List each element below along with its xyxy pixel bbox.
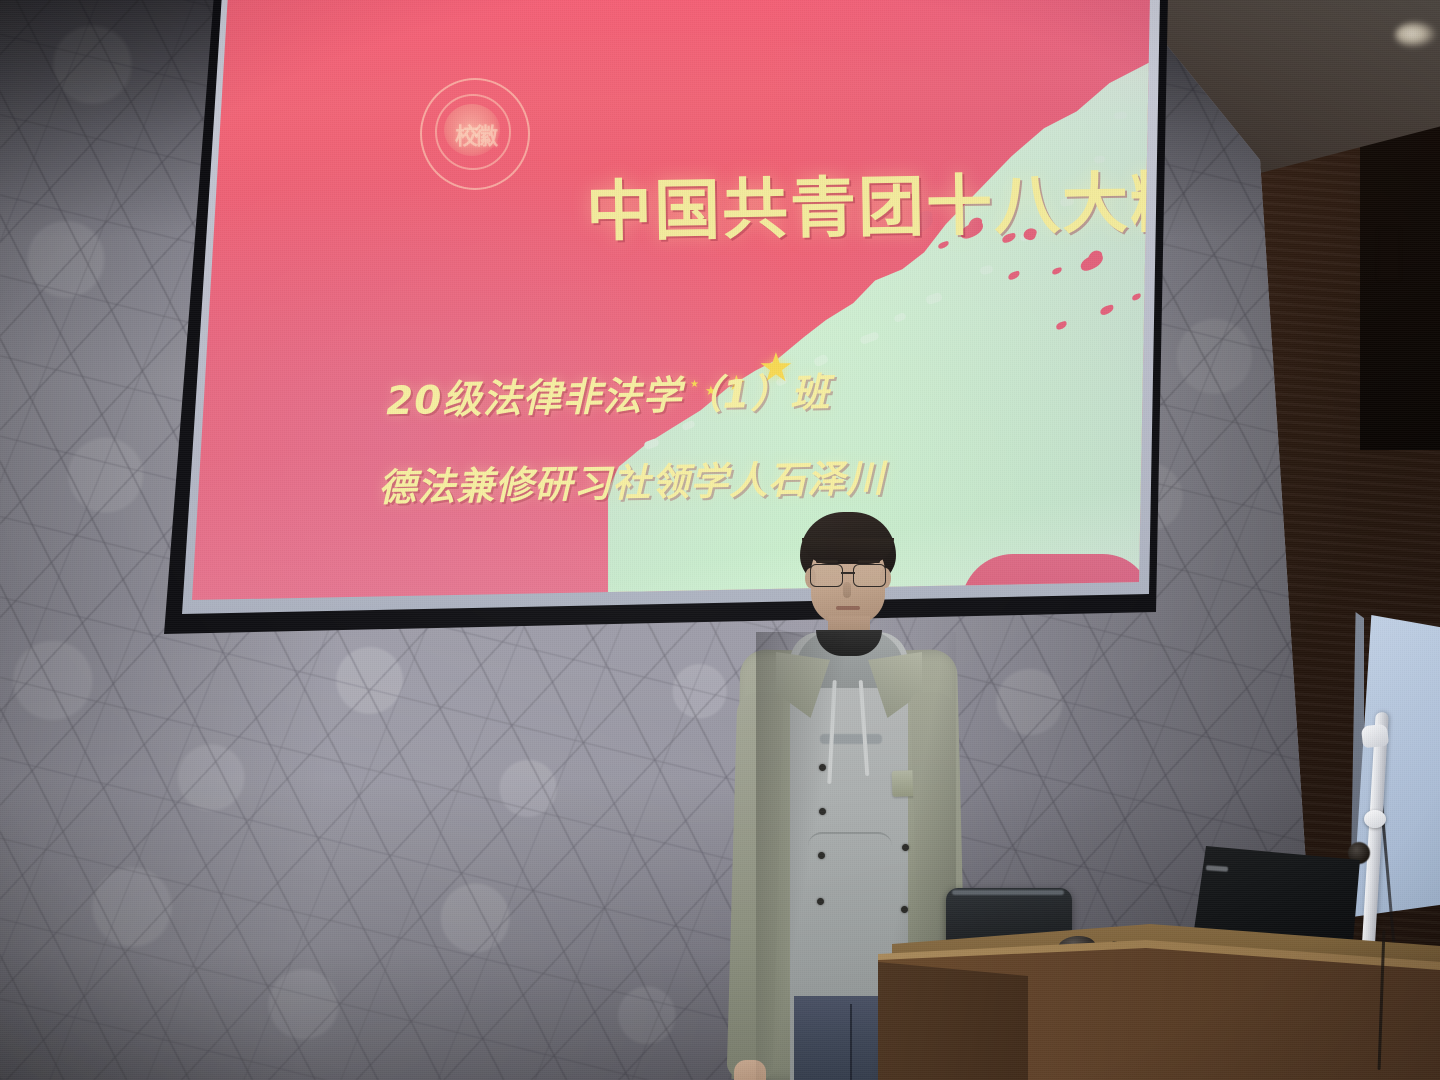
dark-doorway — [1360, 120, 1440, 450]
university-seal-icon: 校徽 — [420, 78, 530, 190]
slide-subtitle-presenter: 德法兼修研习社领学人石泽川 — [378, 447, 886, 512]
document-camera-head-icon — [1361, 724, 1389, 749]
ceiling-light-icon — [1395, 22, 1437, 48]
jacket-button — [818, 852, 825, 859]
jacket-button — [817, 898, 824, 905]
stand-adjust-knob[interactable] — [1364, 810, 1386, 828]
eyebrow-right — [858, 560, 880, 563]
nose — [843, 582, 851, 598]
dove-icon — [1099, 304, 1115, 316]
mouth — [836, 606, 860, 610]
presentation-slide: 校徽 ★ ★ ★ ★ ★ 中国共青团十八大精神学习 20级法律非法学（1）班 — [178, 0, 1150, 602]
glasses-bridge — [841, 572, 855, 574]
glasses-lens-right — [853, 564, 886, 587]
jacket-button — [819, 808, 826, 815]
lectern-left-face — [878, 958, 1028, 1080]
slide-title: 中国共青团十八大精神学习 — [585, 166, 1150, 247]
seal-glyph-text: 校徽 — [422, 80, 528, 188]
jeans-seam — [850, 1004, 852, 1080]
jacket-button — [819, 764, 826, 771]
dove-icon — [1007, 270, 1020, 280]
dove-icon — [1131, 293, 1141, 301]
hand-left — [734, 1060, 766, 1080]
slide-subtitle-class: 20级法律非法学（1）班 — [386, 362, 831, 427]
wall-fixture — [1378, 228, 1400, 280]
glasses-lens-left — [810, 564, 843, 587]
hoodie-pocket — [808, 832, 892, 920]
jacket-button — [902, 844, 909, 851]
dove-icon — [1051, 267, 1062, 275]
lecture-hall-scene: 校徽 ★ ★ ★ ★ ★ 中国共青团十八大精神学习 20级法律非法学（1）班 — [0, 0, 1440, 1080]
jacket-button — [901, 906, 908, 913]
chair-highlight — [952, 890, 1064, 895]
eyebrow-left — [816, 560, 838, 563]
dove-icon — [1055, 321, 1067, 330]
